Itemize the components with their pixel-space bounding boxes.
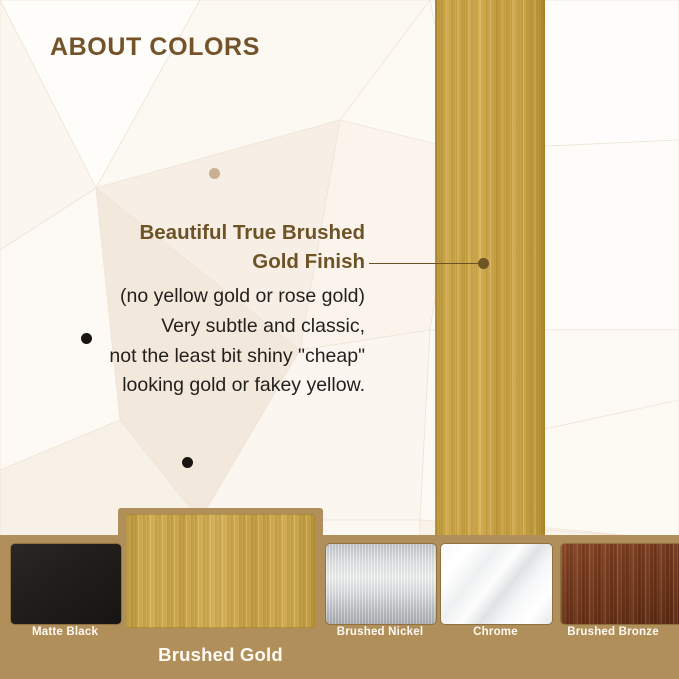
callout-bold-line-1: Beautiful True Brushed — [20, 218, 365, 247]
tan-accent-dot — [209, 168, 220, 179]
swatch-matte-black[interactable] — [10, 543, 122, 625]
callout-text-block: Beautiful True Brushed Gold Finish (no y… — [20, 218, 365, 400]
callout-plain-line-3: not the least bit shiny "cheap" — [20, 343, 365, 371]
callout-plain-line-2: Very subtle and classic, — [20, 313, 365, 341]
swatch-label-brushed-gold: Brushed Gold — [118, 644, 323, 666]
swatch-brushed-bronze[interactable] — [560, 543, 679, 625]
swatch-label-matte-black: Matte Black — [0, 626, 130, 638]
brushed-gold-hero-bar — [435, 0, 545, 536]
gold-bar-left-edge — [435, 0, 437, 536]
swatch-brushed-gold[interactable] — [126, 514, 315, 628]
swatch-brushed-nickel[interactable] — [325, 543, 437, 625]
swatch-label-chrome: Chrome — [440, 626, 551, 638]
callout-bold-line-2: Gold Finish — [20, 247, 365, 276]
callout-plain-line-1: (no yellow gold or rose gold) — [20, 283, 365, 311]
swatch-chrome[interactable] — [440, 543, 553, 625]
callout-leader-line — [369, 263, 481, 264]
product-infographic: ABOUT COLORS Beautiful True Brushed Gold… — [0, 0, 679, 679]
callout-plain-line-4: looking gold or fakey yellow. — [20, 372, 365, 400]
page-title: ABOUT COLORS — [50, 33, 260, 62]
callout-target-dot — [478, 258, 489, 269]
swatch-label-brushed-nickel: Brushed Nickel — [312, 626, 448, 638]
dark-accent-dot-2 — [182, 457, 193, 468]
gold-bar-right-edge — [543, 0, 545, 536]
swatch-label-brushed-bronze: Brushed Bronze — [547, 626, 679, 638]
